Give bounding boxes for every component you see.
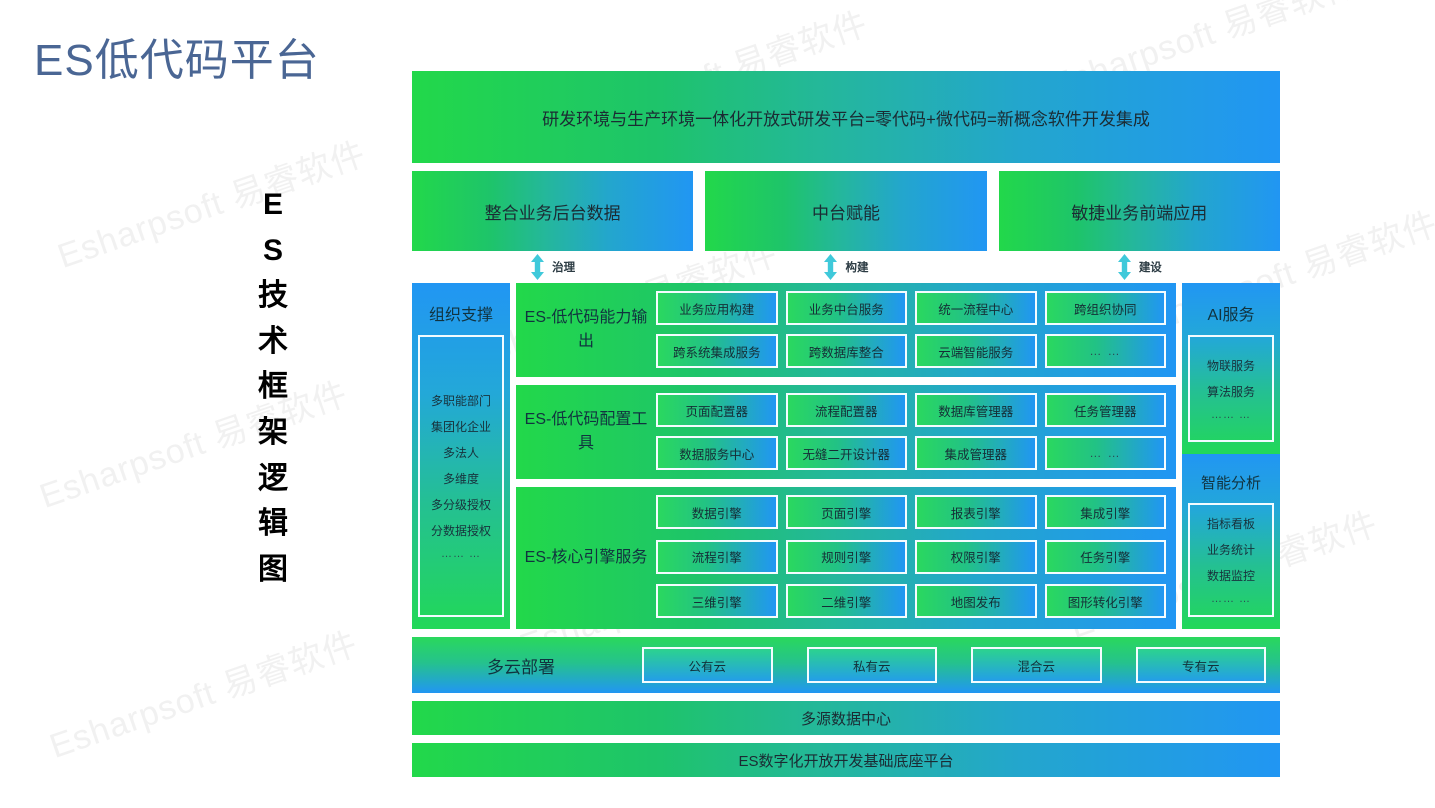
layer-lowcode-config-tools: ES-低代码配置工具 页面配置器 流程配置器 数据库管理器 任务管理器 数据服务… — [516, 385, 1176, 479]
arrow-label: 构建 — [845, 259, 868, 275]
vertical-caption-char: S — [263, 228, 283, 274]
pillar-midplatform-enable[interactable]: 中台赋能 — [705, 171, 986, 251]
capability-cell[interactable]: 业务中台服务 — [786, 291, 908, 325]
vertical-caption-char: E — [263, 182, 283, 228]
band-label: 多源数据中心 — [801, 708, 891, 729]
engine-cell[interactable]: 权限引擎 — [915, 540, 1037, 574]
panel-item-list: 指标看板 业务统计 数据监控 …… … — [1188, 503, 1274, 617]
architecture-diagram: 研发环境与生产环境一体化开放式研发平台=零代码+微代码=新概念软件开发集成 整合… — [412, 71, 1280, 777]
watermark: Esharpsoft 易睿软件 — [42, 616, 363, 767]
list-item: 业务统计 — [1207, 541, 1255, 558]
arrow-label: 治理 — [552, 259, 575, 275]
double-arrow-vertical-icon — [823, 254, 838, 280]
panel-organization-support[interactable]: 组织支撑 多职能部门 集团化企业 多法人 多维度 多分级授权 分数据授权 …… … — [412, 283, 510, 629]
engine-cell[interactable]: 数据引擎 — [656, 495, 778, 529]
cloud-cell-hybrid[interactable]: 混合云 — [971, 647, 1102, 683]
list-item: 算法服务 — [1207, 383, 1255, 400]
tool-cell[interactable]: 任务管理器 — [1045, 393, 1167, 427]
list-item: 集团化企业 — [431, 418, 491, 435]
pillar-label: 整合业务后台数据 — [485, 199, 621, 224]
vertical-caption-char: 框 — [258, 364, 288, 410]
layer-cell-grid: 页面配置器 流程配置器 数据库管理器 任务管理器 数据服务中心 无缝二开设计器 … — [656, 393, 1166, 471]
layer-stack: ES-低代码能力输出 业务应用构建 业务中台服务 统一流程中心 跨组织协同 跨系… — [516, 283, 1176, 629]
band-multisource-datacenter: 多源数据中心 — [412, 701, 1280, 735]
capability-cell[interactable]: 跨组织协同 — [1045, 291, 1167, 325]
list-item: 多职能部门 — [431, 392, 491, 409]
tool-cell[interactable]: 数据库管理器 — [915, 393, 1037, 427]
cloud-option-list: 公有云 私有云 混合云 专有云 — [642, 647, 1266, 683]
panel-item-list: 物联服务 算法服务 …… … — [1188, 335, 1274, 442]
top-banner: 研发环境与生产环境一体化开放式研发平台=零代码+微代码=新概念软件开发集成 — [412, 71, 1280, 163]
tool-cell[interactable]: 数据服务中心 — [656, 436, 778, 470]
list-ellipsis: …… … — [1211, 593, 1251, 605]
list-ellipsis: …… … — [1211, 409, 1251, 421]
vertical-caption-char: 架 — [258, 410, 288, 456]
layer-cell-grid: 业务应用构建 业务中台服务 统一流程中心 跨组织协同 跨系统集成服务 跨数据库整… — [656, 291, 1166, 369]
arrow-build: 构建 — [705, 254, 986, 280]
page-title: ES低代码平台 — [34, 24, 320, 88]
panel-intelligent-analysis[interactable]: 智能分析 指标看板 业务统计 数据监控 …… … — [1182, 454, 1280, 629]
vertical-caption-char: 图 — [258, 547, 288, 593]
list-item: 多维度 — [443, 470, 479, 487]
capability-cell[interactable]: 跨系统集成服务 — [656, 334, 778, 368]
vertical-caption-char: 技 — [258, 273, 288, 319]
tool-cell[interactable]: 集成管理器 — [915, 436, 1037, 470]
engine-cell[interactable]: 页面引擎 — [786, 495, 908, 529]
list-item: 指标看板 — [1207, 515, 1255, 532]
layer-core-engine-services: ES-核心引擎服务 数据引擎 页面引擎 报表引擎 集成引擎 流程引擎 规则引擎 … — [516, 487, 1176, 629]
arrow-governance: 治理 — [412, 254, 693, 280]
cloud-cell-dedicated[interactable]: 专有云 — [1136, 647, 1267, 683]
engine-cell[interactable]: 集成引擎 — [1045, 495, 1167, 529]
right-sidebar: AI服务 物联服务 算法服务 …… … 智能分析 指标看板 业务统计 数据监控 … — [1182, 283, 1280, 629]
capability-cell[interactable]: 云端智能服务 — [915, 334, 1037, 368]
panel-item-list: 多职能部门 集团化企业 多法人 多维度 多分级授权 分数据授权 …… … — [418, 335, 504, 617]
panel-title: AI服务 — [1207, 301, 1254, 325]
layer-lowcode-capability: ES-低代码能力输出 业务应用构建 业务中台服务 统一流程中心 跨组织协同 跨系… — [516, 283, 1176, 377]
layer-title: ES-核心引擎服务 — [516, 495, 656, 621]
list-item: 多法人 — [443, 444, 479, 461]
engine-cell[interactable]: 规则引擎 — [786, 540, 908, 574]
capability-cell[interactable]: 业务应用构建 — [656, 291, 778, 325]
pillar-label: 中台赋能 — [812, 199, 880, 224]
tool-cell-more[interactable]: … … — [1045, 436, 1167, 470]
left-sidebar: 组织支撑 多职能部门 集团化企业 多法人 多维度 多分级授权 分数据授权 …… … — [412, 283, 510, 629]
vertical-caption-char: 逻 — [258, 456, 288, 502]
engine-cell[interactable]: 地图发布 — [915, 584, 1037, 618]
multicloud-deployment-band: 多云部署 公有云 私有云 混合云 专有云 — [412, 637, 1280, 693]
engine-cell[interactable]: 二维引擎 — [786, 584, 908, 618]
layer-title: ES-低代码能力输出 — [516, 291, 656, 369]
watermark: Esharpsoft 易睿软件 — [32, 366, 353, 517]
engine-cell[interactable]: 三维引擎 — [656, 584, 778, 618]
panel-ai-services[interactable]: AI服务 物联服务 算法服务 …… … — [1182, 283, 1280, 454]
panel-title: 智能分析 — [1201, 472, 1261, 493]
cloud-band-label: 多云部署 — [426, 653, 616, 678]
band-digital-foundation-platform: ES数字化开放开发基础底座平台 — [412, 743, 1280, 777]
pillar-label: 敏捷业务前端应用 — [1071, 199, 1207, 224]
engine-cell[interactable]: 任务引擎 — [1045, 540, 1167, 574]
tool-cell[interactable]: 页面配置器 — [656, 393, 778, 427]
watermark: Esharpsoft 易睿软件 — [50, 126, 371, 277]
layer-title: ES-低代码配置工具 — [516, 393, 656, 471]
engine-cell[interactable]: 流程引擎 — [656, 540, 778, 574]
arrow-row: 治理 构建 建设 — [412, 251, 1280, 283]
double-arrow-vertical-icon — [530, 254, 545, 280]
list-ellipsis: …… … — [441, 548, 481, 560]
capability-cell-more[interactable]: … … — [1045, 334, 1167, 368]
vertical-caption-char: 辑 — [258, 501, 288, 547]
pillar-backend-data[interactable]: 整合业务后台数据 — [412, 171, 693, 251]
list-item: 分数据授权 — [431, 522, 491, 539]
layer-cell-grid: 数据引擎 页面引擎 报表引擎 集成引擎 流程引擎 规则引擎 权限引擎 任务引擎 … — [656, 495, 1166, 621]
vertical-caption-char: 术 — [258, 319, 288, 365]
cloud-cell-public[interactable]: 公有云 — [642, 647, 773, 683]
pillar-row: 整合业务后台数据 中台赋能 敏捷业务前端应用 — [412, 171, 1280, 251]
middle-region: 组织支撑 多职能部门 集团化企业 多法人 多维度 多分级授权 分数据授权 …… … — [412, 283, 1280, 629]
arrow-label: 建设 — [1139, 259, 1162, 275]
capability-cell[interactable]: 跨数据库整合 — [786, 334, 908, 368]
list-item: 数据监控 — [1207, 567, 1255, 584]
arrow-construction: 建设 — [999, 254, 1280, 280]
tool-cell[interactable]: 流程配置器 — [786, 393, 908, 427]
engine-cell[interactable]: 图形转化引擎 — [1045, 584, 1167, 618]
pillar-frontend-app[interactable]: 敏捷业务前端应用 — [999, 171, 1280, 251]
vertical-caption: E S 技 术 框 架 逻 辑 图 — [243, 182, 303, 592]
capability-cell[interactable]: 统一流程中心 — [915, 291, 1037, 325]
band-label: ES数字化开放开发基础底座平台 — [738, 750, 953, 771]
top-banner-label: 研发环境与生产环境一体化开放式研发平台=零代码+微代码=新概念软件开发集成 — [542, 105, 1150, 130]
cloud-cell-private[interactable]: 私有云 — [807, 647, 938, 683]
engine-cell[interactable]: 报表引擎 — [915, 495, 1037, 529]
tool-cell[interactable]: 无缝二开设计器 — [786, 436, 908, 470]
list-item: 物联服务 — [1207, 357, 1255, 374]
panel-title: 组织支撑 — [429, 301, 493, 325]
list-item: 多分级授权 — [431, 496, 491, 513]
double-arrow-vertical-icon — [1117, 254, 1132, 280]
